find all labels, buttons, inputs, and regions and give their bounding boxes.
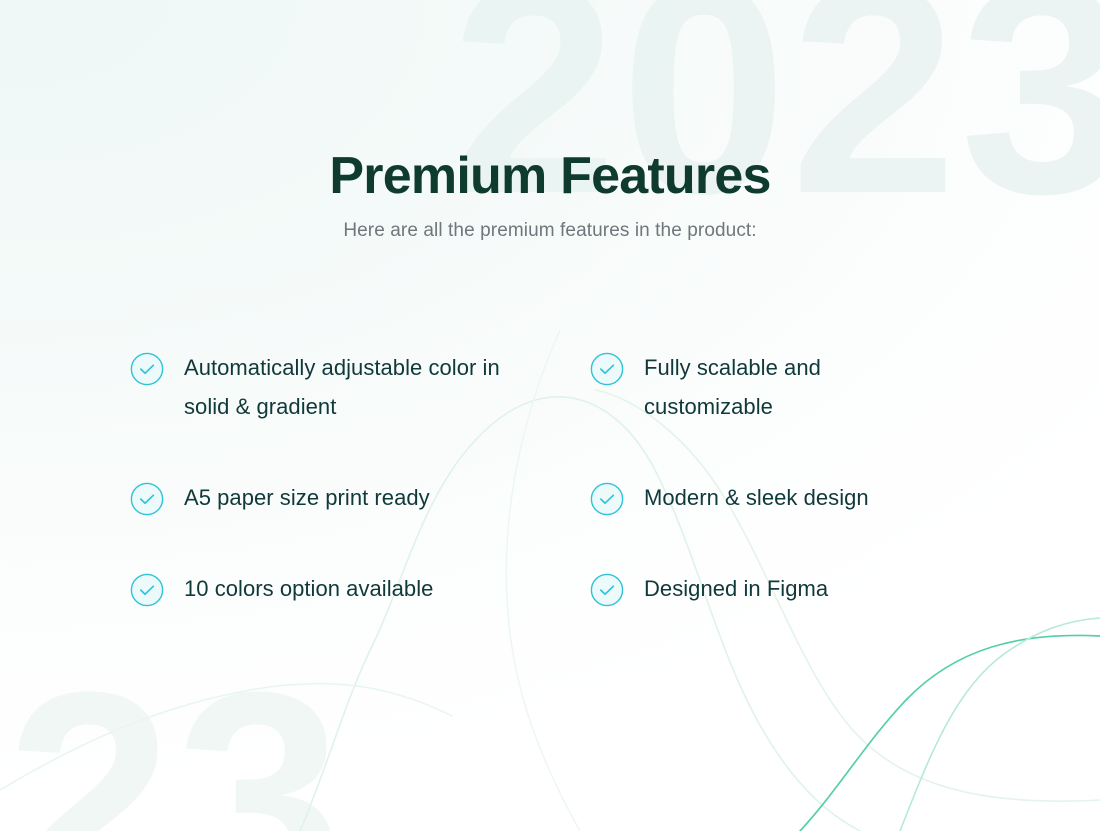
feature-item: Modern & sleek design: [590, 478, 970, 517]
features-list: Automatically adjustable color in solid …: [130, 348, 970, 609]
feature-label: Automatically adjustable color in solid …: [184, 348, 514, 426]
feature-label: Designed in Figma: [644, 569, 828, 608]
check-circle-icon: [590, 352, 624, 386]
slide-canvas: 2023 23 Premium Features Here are all th…: [0, 0, 1100, 831]
check-circle-icon: [590, 482, 624, 516]
feature-label: A5 paper size print ready: [184, 478, 430, 517]
feature-item: 10 colors option available: [130, 569, 590, 608]
feature-item: Fully scalable and customizable: [590, 348, 970, 426]
check-circle-icon: [130, 352, 164, 386]
slide-content: Premium Features Here are all the premiu…: [0, 0, 1100, 831]
check-circle-icon: [590, 573, 624, 607]
page-subtitle: Here are all the premium features in the…: [0, 220, 1100, 242]
check-circle-icon: [130, 482, 164, 516]
feature-label: Modern & sleek design: [644, 478, 869, 517]
feature-item: Automatically adjustable color in solid …: [130, 348, 590, 426]
page-title: Premium Features: [0, 147, 1100, 205]
check-circle-icon: [130, 573, 164, 607]
feature-label: Fully scalable and customizable: [644, 348, 944, 426]
feature-item: Designed in Figma: [590, 569, 970, 608]
feature-item: A5 paper size print ready: [130, 478, 590, 517]
feature-label: 10 colors option available: [184, 569, 433, 608]
